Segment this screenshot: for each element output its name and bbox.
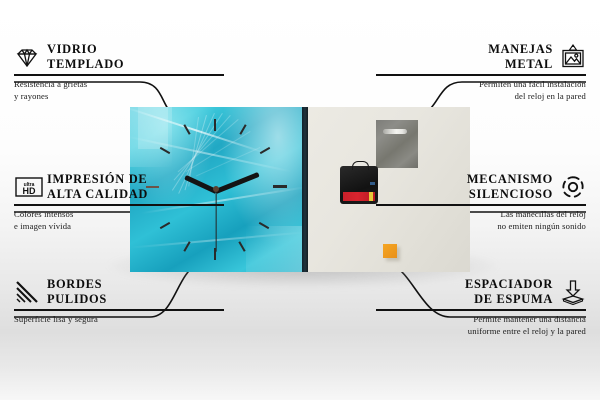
feature-title-line2: DE ESPUMA — [474, 292, 553, 306]
mechanism-hanging-loop — [352, 161, 369, 170]
feature-title: BORDES PULIDOS — [47, 277, 107, 307]
feature-title: MANEJAS METAL — [488, 42, 553, 72]
feature-title-line2: METAL — [505, 57, 553, 71]
feature-desc-line2: no emiten ningún sonido — [497, 221, 586, 231]
feature-desc-line1: Superficie lisa y segura — [14, 314, 98, 324]
feature-divider — [14, 204, 224, 206]
feature-impresion-alta-calidad: ultra HD IMPRESIÓN DE ALTA CALIDAD Color… — [14, 172, 224, 232]
hanger-keyhole-slot — [383, 129, 407, 134]
mechanism-label — [343, 192, 375, 201]
feature-title-line1: BORDES — [47, 277, 102, 291]
feature-desc-line1: Resistencia a grietas — [14, 79, 87, 89]
feature-vidrio-templado: VIDRIO TEMPLADO Resistencia a grietas y … — [14, 42, 224, 102]
feature-header: MECANISMO SILENCIOSO — [376, 172, 586, 202]
feature-desc-line1: Colores intensos — [14, 209, 73, 219]
feature-desc-line1: Las manecillas del reloj — [501, 209, 586, 219]
feature-title-line2: TEMPLADO — [47, 57, 124, 71]
feature-title-line2: PULIDOS — [47, 292, 107, 306]
clock-mechanism-box — [340, 166, 378, 204]
arrow-down-onto-pad-icon — [560, 279, 586, 305]
feature-header: VIDRIO TEMPLADO — [14, 42, 224, 72]
feature-description: Superficie lisa y segura — [14, 314, 224, 326]
feature-header: MANEJAS METAL — [376, 42, 586, 72]
feature-header: ultra HD IMPRESIÓN DE ALTA CALIDAD — [14, 172, 224, 202]
feature-desc-line2: uniforme entre el reloj y la pared — [468, 326, 586, 336]
mechanism-detail — [370, 182, 375, 185]
feature-divider — [14, 309, 224, 311]
feature-title: MECANISMO SILENCIOSO — [467, 172, 553, 202]
hanging-picture-frame-icon — [560, 44, 586, 70]
mechanism-label-mark — [369, 192, 373, 201]
feature-desc-line2: del reloj en la pared — [515, 91, 586, 101]
feature-title-line1: IMPRESIÓN DE — [47, 172, 147, 186]
feature-description: Resistencia a grietas y rayones — [14, 79, 224, 102]
feature-divider — [14, 74, 224, 76]
feature-description: Permiten una fácil instalación del reloj… — [376, 79, 586, 102]
foam-spacer-pad — [383, 244, 397, 258]
feature-header: ESPACIADOR DE ESPUMA — [376, 277, 586, 307]
feature-manejas-metal: MANEJAS METAL Permiten una fácil instala… — [376, 42, 586, 102]
feature-title-line1: ESPACIADOR — [465, 277, 553, 291]
gear-icon — [560, 174, 586, 200]
feature-mecanismo-silencioso: MECANISMO SILENCIOSO Las manecillas del … — [376, 172, 586, 232]
feature-bordes-pulidos: BORDES PULIDOS Superficie lisa y segura — [14, 277, 224, 326]
feature-desc-line1: Permite mantener una distancia — [473, 314, 586, 324]
feature-description: Permite mantener una distancia uniforme … — [376, 314, 586, 337]
feature-header: BORDES PULIDOS — [14, 277, 224, 307]
feature-desc-line2: e imagen vívida — [14, 221, 71, 231]
feature-title-line1: VIDRIO — [47, 42, 97, 56]
feature-title-line2: SILENCIOSO — [469, 187, 553, 201]
metal-hanger-plate — [376, 120, 418, 168]
diagonal-lines-icon — [14, 279, 40, 305]
feature-title: VIDRIO TEMPLADO — [47, 42, 124, 72]
feature-divider — [376, 204, 586, 206]
feature-description: Colores intensos e imagen vívida — [14, 209, 224, 232]
diamond-icon — [14, 44, 40, 70]
feature-desc-line1: Permiten una fácil instalación — [479, 79, 586, 89]
feature-espaciador-espuma: ESPACIADOR DE ESPUMA Permite mantener un… — [376, 277, 586, 337]
feature-title: IMPRESIÓN DE ALTA CALIDAD — [47, 172, 148, 202]
feature-desc-line2: y rayones — [14, 91, 49, 101]
feature-description: Las manecillas del reloj no emiten ningú… — [376, 209, 586, 232]
ultra-hd-icon: ultra HD — [14, 174, 40, 200]
infographic-canvas: VIDRIO TEMPLADO Resistencia a grietas y … — [0, 0, 600, 400]
feature-title: ESPACIADOR DE ESPUMA — [465, 277, 553, 307]
feature-divider — [376, 309, 586, 311]
feature-divider — [376, 74, 586, 76]
feature-title-line1: MANEJAS — [488, 42, 553, 56]
svg-text:HD: HD — [23, 186, 36, 196]
feature-title-line1: MECANISMO — [467, 172, 553, 186]
feature-title-line2: ALTA CALIDAD — [47, 187, 148, 201]
